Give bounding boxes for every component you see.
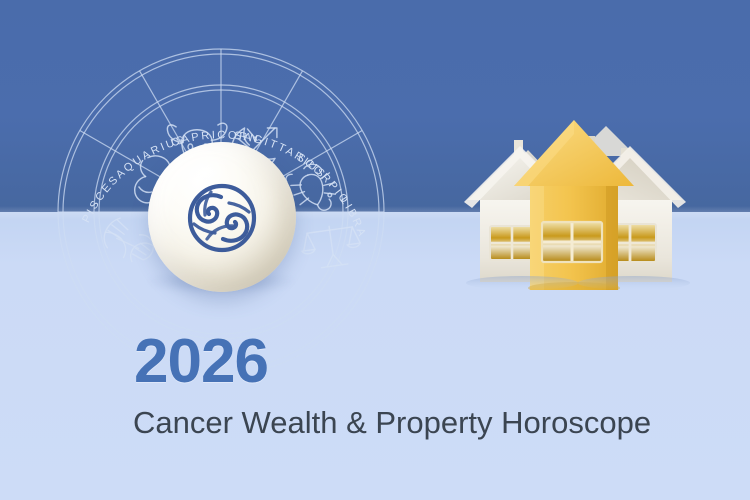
page-subtitle: Cancer Wealth & Property Horoscope <box>133 404 651 441</box>
wheel-label-pisces: PISCES <box>80 173 122 225</box>
house-group <box>458 104 698 290</box>
wheel-label-libra: LIBRA <box>338 195 369 240</box>
cancer-crab-icon <box>180 176 264 260</box>
libra-scales-icon <box>299 222 363 270</box>
horoscope-poster: PISCES AQUARIUS CAPRICORN SAGITTARIUS SC… <box>0 0 750 500</box>
page-title-year: 2026 <box>134 331 268 393</box>
cancer-sphere <box>140 136 302 304</box>
